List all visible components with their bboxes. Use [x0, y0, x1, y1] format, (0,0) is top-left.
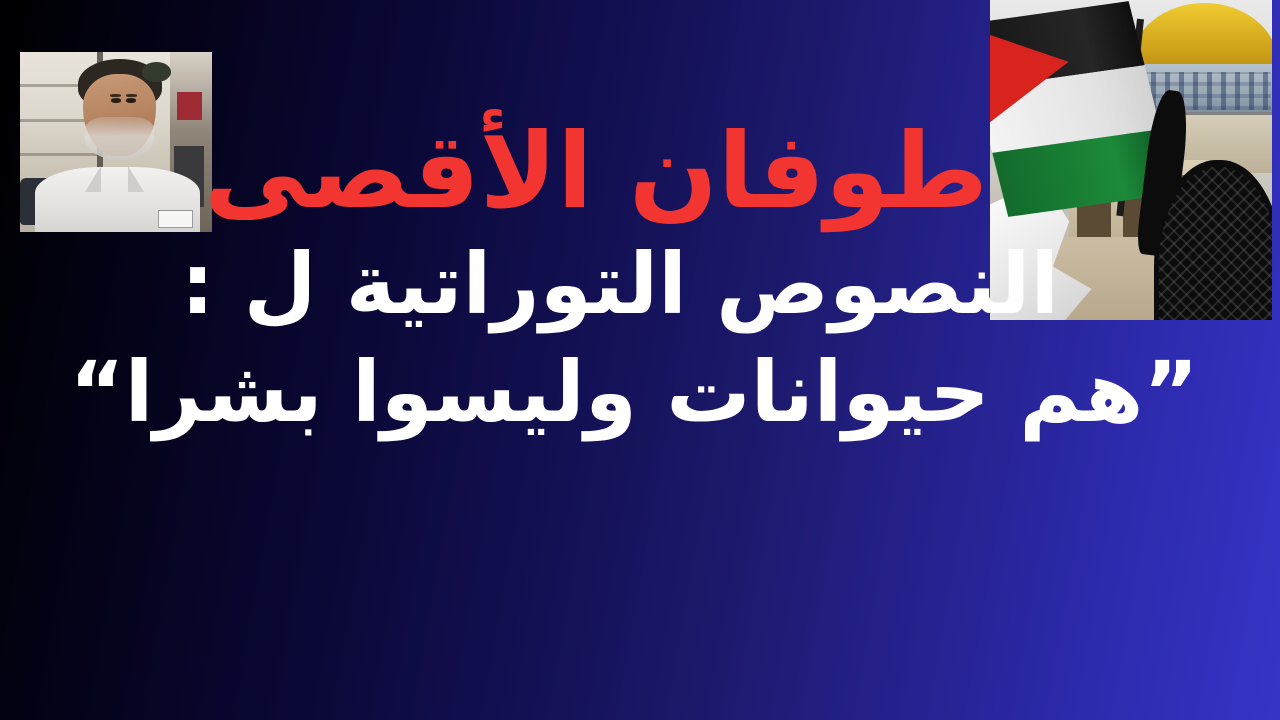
portrait-eye-right — [126, 98, 135, 102]
headline-text-block: طوفان الأقصى النصوص التوراتية ل : ”هم حي… — [0, 118, 1280, 435]
portrait-eyebrow-right — [126, 94, 137, 96]
title-main: طوفان الأقصى — [0, 118, 1280, 224]
subtitle-line-1: النصوص التوراتية ل : — [0, 242, 1280, 328]
portrait-eyebrow-left — [110, 94, 121, 96]
subtitle-line-2: ”هم حيوانات وليسوا بشرا“ — [0, 350, 1280, 436]
portrait-eye-left — [111, 98, 120, 102]
thumbnail-canvas: طوفان الأقصى النصوص التوراتية ل : ”هم حي… — [0, 0, 1280, 720]
